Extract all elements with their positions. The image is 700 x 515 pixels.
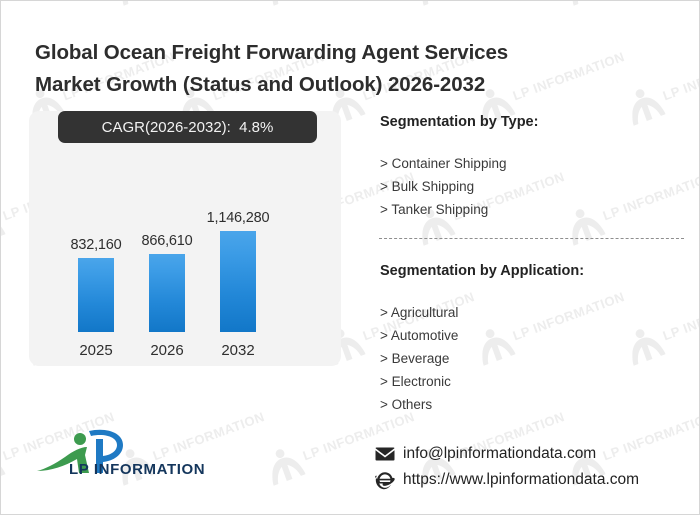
watermark-logo-icon: [1, 439, 6, 486]
page-title-line-1: Global Ocean Freight Forwarding Agent Se…: [35, 41, 508, 64]
watermark-mark: LP INFORMATION: [471, 278, 630, 367]
watermark-logo-icon: [561, 1, 606, 7]
watermark-logo-icon: [1, 199, 6, 246]
watermark-mark: LP INFORMATION: [621, 278, 699, 367]
watermark-logo-icon: [471, 319, 516, 366]
list-item: > Container Shipping: [380, 152, 506, 175]
watermark-label: LP INFORMATION: [661, 49, 699, 103]
watermark-label: LP INFORMATION: [511, 289, 627, 343]
bar-value-label: 866,610: [141, 233, 192, 249]
watermark-label: LP INFORMATION: [601, 169, 699, 223]
segmentation-application-list: > Agricultural > Automotive > Beverage >…: [380, 301, 458, 416]
watermark-logo-icon: [621, 319, 666, 366]
segmentation-type-heading: Segmentation by Type:: [380, 114, 538, 130]
contact-website-row[interactable]: https://www.lpinformationdata.com: [375, 467, 639, 493]
watermark-mark: LP INFORMATION: [261, 1, 420, 7]
page-title-line-2: Market Growth (Status and Outlook) 2026-…: [35, 69, 635, 101]
page-title: Global Ocean Freight Forwarding Agent Se…: [35, 37, 635, 101]
bar-group: 832,160 2025: [66, 237, 126, 332]
list-item: > Electronic: [380, 370, 458, 393]
contact-website-text: https://www.lpinformationdata.com: [403, 471, 639, 489]
list-item: > Beverage: [380, 347, 458, 370]
bar-rect: [149, 254, 185, 332]
contact-block: info@lpinformationdata.com https://www.l…: [375, 441, 639, 493]
watermark-logo-icon: [1, 1, 6, 7]
internet-explorer-icon: [375, 470, 395, 490]
list-item: > Automotive: [380, 324, 458, 347]
watermark-mark: LP INFORMATION: [411, 1, 570, 7]
segmentation-type-list: > Container Shipping > Bulk Shipping > T…: [380, 152, 506, 221]
watermark-mark: LP INFORMATION: [111, 1, 270, 7]
watermark-logo-icon: [411, 1, 456, 7]
envelope-icon: [375, 444, 395, 464]
list-item: > Others: [380, 393, 458, 416]
watermark-logo-icon: [561, 199, 606, 246]
brand-logo-name: LP INFORMATION: [69, 461, 213, 478]
list-item: > Tanker Shipping: [380, 198, 506, 221]
segmentation-application-heading: Segmentation by Application:: [380, 263, 584, 279]
bar-value-label: 1,146,280: [207, 210, 270, 226]
bar-category-label: 2025: [79, 342, 112, 359]
bar-category-label: 2032: [221, 342, 254, 359]
bar-group: 866,610 2026: [137, 233, 197, 332]
cagr-badge-label: CAGR(2026-2032): 4.8%: [102, 119, 274, 136]
watermark-mark: LP INFORMATION: [1, 1, 120, 7]
bar-category-label: 2026: [150, 342, 183, 359]
contact-email-row[interactable]: info@lpinformationdata.com: [375, 441, 639, 467]
contact-email-text: info@lpinformationdata.com: [403, 445, 596, 463]
watermark-label: LP INFORMATION: [661, 289, 699, 343]
bar-rect: [220, 231, 256, 332]
bar-value-label: 832,160: [70, 237, 121, 253]
watermark-logo-icon: [261, 1, 306, 7]
brand-logo: LP INFORMATION: [33, 425, 213, 478]
watermark-mark: LP INFORMATION: [561, 158, 699, 247]
list-item: > Agricultural: [380, 301, 458, 324]
watermark-logo-icon: [261, 439, 306, 486]
watermark-mark: LP INFORMATION: [561, 1, 699, 7]
bar-chart: 832,160 2025 866,610 2026 1,146,280 2032: [29, 111, 341, 366]
dashed-divider: [379, 238, 684, 239]
bar-group: 1,146,280 2032: [208, 210, 268, 332]
bar-rect: [78, 258, 114, 332]
cagr-badge: CAGR(2026-2032): 4.8%: [58, 111, 317, 143]
list-item: > Bulk Shipping: [380, 175, 506, 198]
watermark-logo-icon: [111, 1, 156, 7]
